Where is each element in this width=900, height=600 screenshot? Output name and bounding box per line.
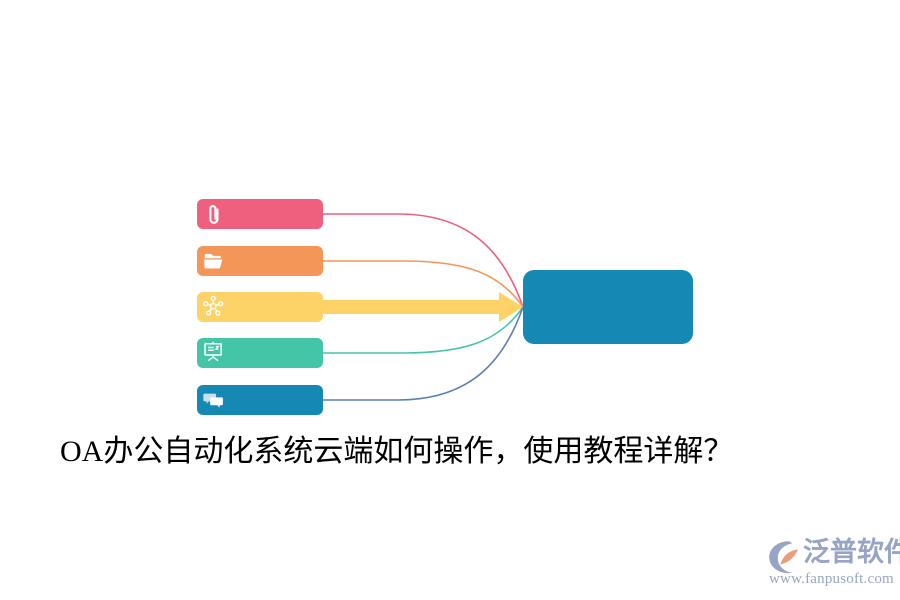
watermark-brand-text: 泛普软件 [803, 534, 900, 570]
page-title: OA办公自动化系统云端如何操作，使用教程详解？ [60, 430, 860, 474]
oa-flow-diagram [0, 0, 900, 600]
watermark: 泛普软件 www.fanpusoft.com [765, 534, 895, 590]
bar-chat[interactable] [197, 385, 323, 415]
bar-attachment[interactable] [197, 199, 323, 229]
target-box-shape[interactable] [523, 270, 693, 344]
folder-icon [204, 254, 222, 268]
bar-network[interactable] [197, 292, 323, 322]
watermark-url-text: www.fanpusoft.com [769, 570, 894, 588]
bar-presentation-shape[interactable] [197, 338, 323, 368]
bar-folder[interactable] [197, 246, 323, 276]
bar-presentation[interactable] [197, 338, 323, 368]
screenshot-canvas: OA办公自动化系统云端如何操作，使用教程详解？ 泛普软件 www.fanpuso… [0, 0, 900, 600]
main-arrow-shape [323, 292, 523, 322]
fanpu-circle-leaf-logo [765, 540, 803, 574]
main-arrow [323, 292, 523, 322]
target-box[interactable] [523, 270, 693, 344]
